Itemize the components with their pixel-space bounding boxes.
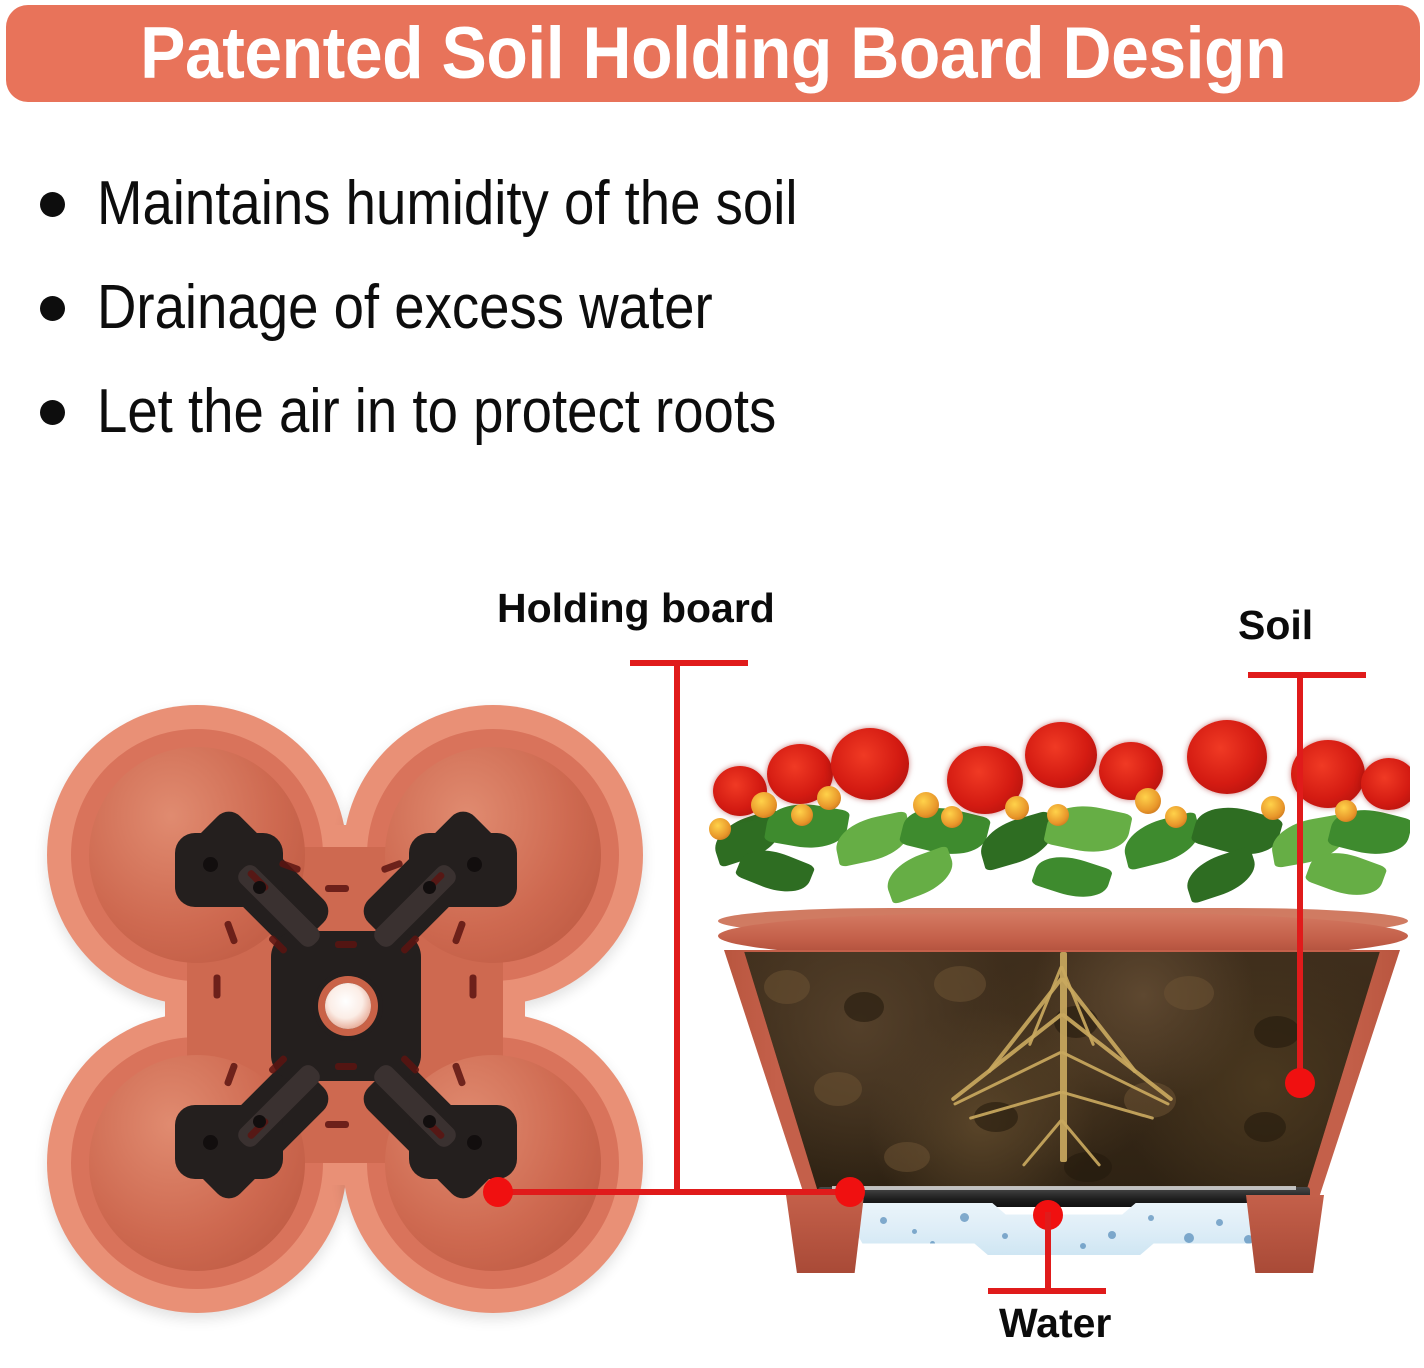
drainage-slot	[325, 1121, 349, 1128]
water-bubble	[1148, 1215, 1154, 1221]
bullet-dot-icon	[40, 400, 65, 425]
board-knob	[203, 857, 218, 872]
flower-bud	[1261, 796, 1285, 820]
drainage-slot	[224, 920, 239, 945]
water-bubble	[1108, 1231, 1116, 1239]
board-knob	[253, 881, 266, 894]
leader-water-stem	[1045, 1212, 1051, 1292]
list-item-label: Let the air in to protect roots	[97, 381, 776, 443]
leader-soil-stem	[1297, 672, 1303, 1084]
drainage-slot	[452, 920, 467, 945]
water-bubble	[1184, 1233, 1194, 1243]
drainage-slot	[335, 941, 357, 948]
leader-dot-soil	[1285, 1068, 1315, 1098]
flower-bud	[751, 792, 777, 818]
flower-bud	[1005, 796, 1029, 820]
leader-dot-holding-board-left	[483, 1177, 513, 1207]
bullet-dot-icon	[40, 192, 65, 217]
board-knob	[253, 1115, 266, 1128]
flower-bud	[1047, 804, 1069, 826]
quatrefoil-planter-photo	[45, 705, 645, 1315]
drainage-slot	[325, 885, 349, 892]
drainage-slot	[335, 1063, 357, 1070]
leaf	[1181, 846, 1261, 904]
flower-bud	[1335, 800, 1357, 822]
flower-bud	[941, 806, 963, 828]
flower-bloom	[831, 728, 909, 800]
root-branch	[1022, 1119, 1063, 1167]
callout-label-soil: Soil	[1238, 605, 1313, 646]
list-item: Drainage of excess water	[40, 256, 1140, 360]
feature-list: Maintains humidity of the soil Drainage …	[40, 152, 1140, 464]
leaf	[1031, 847, 1113, 906]
holding-board-highlight	[832, 1186, 1296, 1190]
water-bubble	[960, 1213, 969, 1222]
flower-bloom	[1187, 720, 1267, 794]
header-banner: Patented Soil Holding Board Design	[6, 5, 1420, 102]
water-bubble	[912, 1229, 917, 1234]
list-item-label: Maintains humidity of the soil	[97, 173, 798, 235]
leaf	[881, 845, 960, 905]
callout-label-holding-board: Holding board	[497, 588, 775, 629]
page-title: Patented Soil Holding Board Design	[140, 17, 1286, 90]
drainage-slot	[224, 1062, 239, 1087]
flower-bud	[1135, 788, 1161, 814]
flower-bloom	[1361, 758, 1410, 810]
water-bubble	[1080, 1243, 1086, 1249]
flower-bloom	[1025, 722, 1097, 788]
leader-soil-bar	[1248, 672, 1366, 678]
list-item: Let the air in to protect roots	[40, 360, 1140, 464]
water-reservoir	[840, 1203, 1288, 1255]
center-drainage-hole	[325, 983, 371, 1029]
board-knob	[423, 881, 436, 894]
list-item-label: Drainage of excess water	[97, 277, 713, 339]
callout-label-water: Water	[999, 1303, 1111, 1344]
flower-bud	[1165, 806, 1187, 828]
soil-holding-board	[175, 833, 515, 1178]
bullet-dot-icon	[40, 296, 65, 321]
water-bubble	[880, 1217, 887, 1224]
flower-bud	[791, 804, 813, 826]
leader-holding-board-bar	[630, 660, 748, 666]
flower-bud	[709, 818, 731, 840]
water-bubble	[1216, 1219, 1223, 1226]
water-bubble	[930, 1241, 935, 1246]
board-knob	[467, 857, 482, 872]
root-branch	[1061, 1091, 1154, 1120]
pot-foot	[1246, 1195, 1324, 1273]
leader-holding-board-branch	[498, 1189, 850, 1195]
leader-dot-holding-board-right	[835, 1177, 865, 1207]
water-bubble	[1002, 1233, 1008, 1239]
drainage-slot	[470, 975, 477, 999]
board-knob	[423, 1115, 436, 1128]
root-branch	[1061, 1012, 1174, 1101]
leader-holding-board-stem	[674, 660, 680, 1195]
list-item: Maintains humidity of the soil	[40, 152, 1140, 256]
drainage-slot	[214, 975, 221, 999]
root-branch	[1028, 965, 1063, 1046]
drainage-slot	[452, 1062, 467, 1087]
root-branch	[969, 1091, 1062, 1120]
leader-water-bar	[988, 1288, 1106, 1294]
flower-bud	[913, 792, 939, 818]
board-knob	[203, 1135, 218, 1150]
board-knob	[467, 1135, 482, 1150]
flower-bud	[817, 786, 841, 810]
